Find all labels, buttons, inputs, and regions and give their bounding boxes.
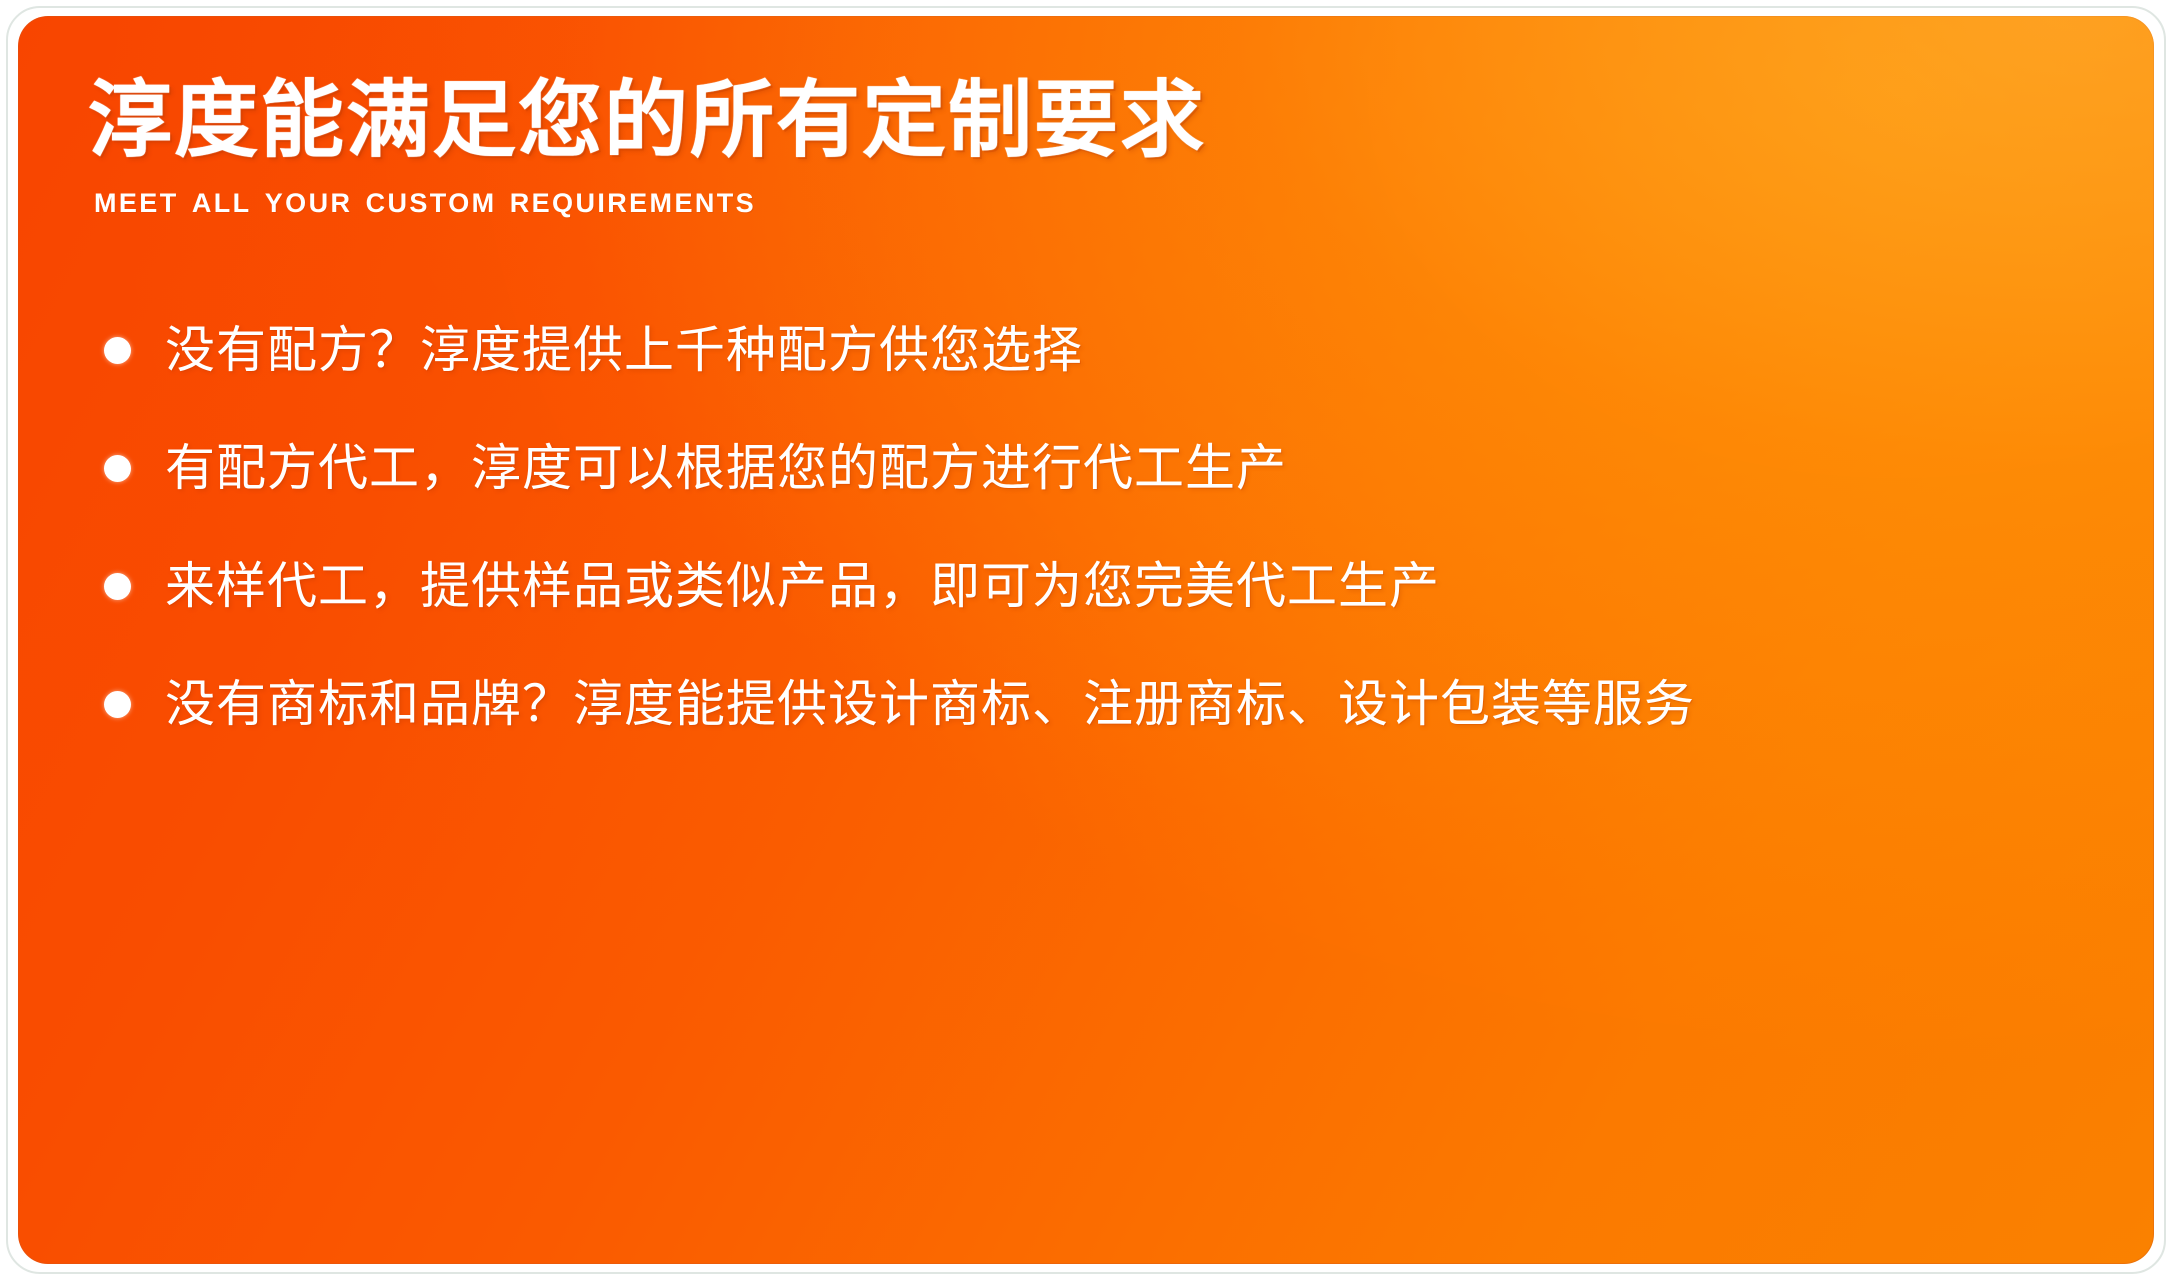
orange-panel: 淳度能满足您的所有定制要求 Meet all your custom requi… xyxy=(18,16,2154,1264)
list-item-label: 没有商标和品牌？淳度能提供设计商标、注册商标、设计包装等服务 xyxy=(165,675,1695,734)
list-item-label: 有配方代工，淳度可以根据您的配方进行代工生产 xyxy=(165,439,1287,498)
feature-list: 没有配方？淳度提供上千种配方供您选择 有配方代工，淳度可以根据您的配方进行代工生… xyxy=(96,306,2096,778)
list-item: 有配方代工，淳度可以根据您的配方进行代工生产 xyxy=(96,424,2096,512)
bullet-dot-icon xyxy=(104,691,131,718)
heading-block: 淳度能满足您的所有定制要求 Meet all your custom requi… xyxy=(88,78,1788,222)
list-item-label: 来样代工，提供样品或类似产品，即可为您完美代工生产 xyxy=(165,557,1440,616)
list-item: 来样代工，提供样品或类似产品，即可为您完美代工生产 xyxy=(96,542,2096,630)
bullet-dot-icon xyxy=(104,455,131,482)
page-title: 淳度能满足您的所有定制要求 xyxy=(88,78,1788,164)
banner-canvas: 淳度能满足您的所有定制要求 Meet all your custom requi… xyxy=(0,0,2172,1280)
list-item-label: 没有配方？淳度提供上千种配方供您选择 xyxy=(165,321,1083,380)
bullet-dot-icon xyxy=(104,337,131,364)
list-item: 没有商标和品牌？淳度能提供设计商标、注册商标、设计包装等服务 xyxy=(96,660,2096,748)
bullet-dot-icon xyxy=(104,573,131,600)
list-item: 没有配方？淳度提供上千种配方供您选择 xyxy=(96,306,2096,394)
page-subtitle: Meet all your custom requirements xyxy=(94,178,1788,222)
banner-content: 淳度能满足您的所有定制要求 Meet all your custom requi… xyxy=(18,16,2154,1264)
